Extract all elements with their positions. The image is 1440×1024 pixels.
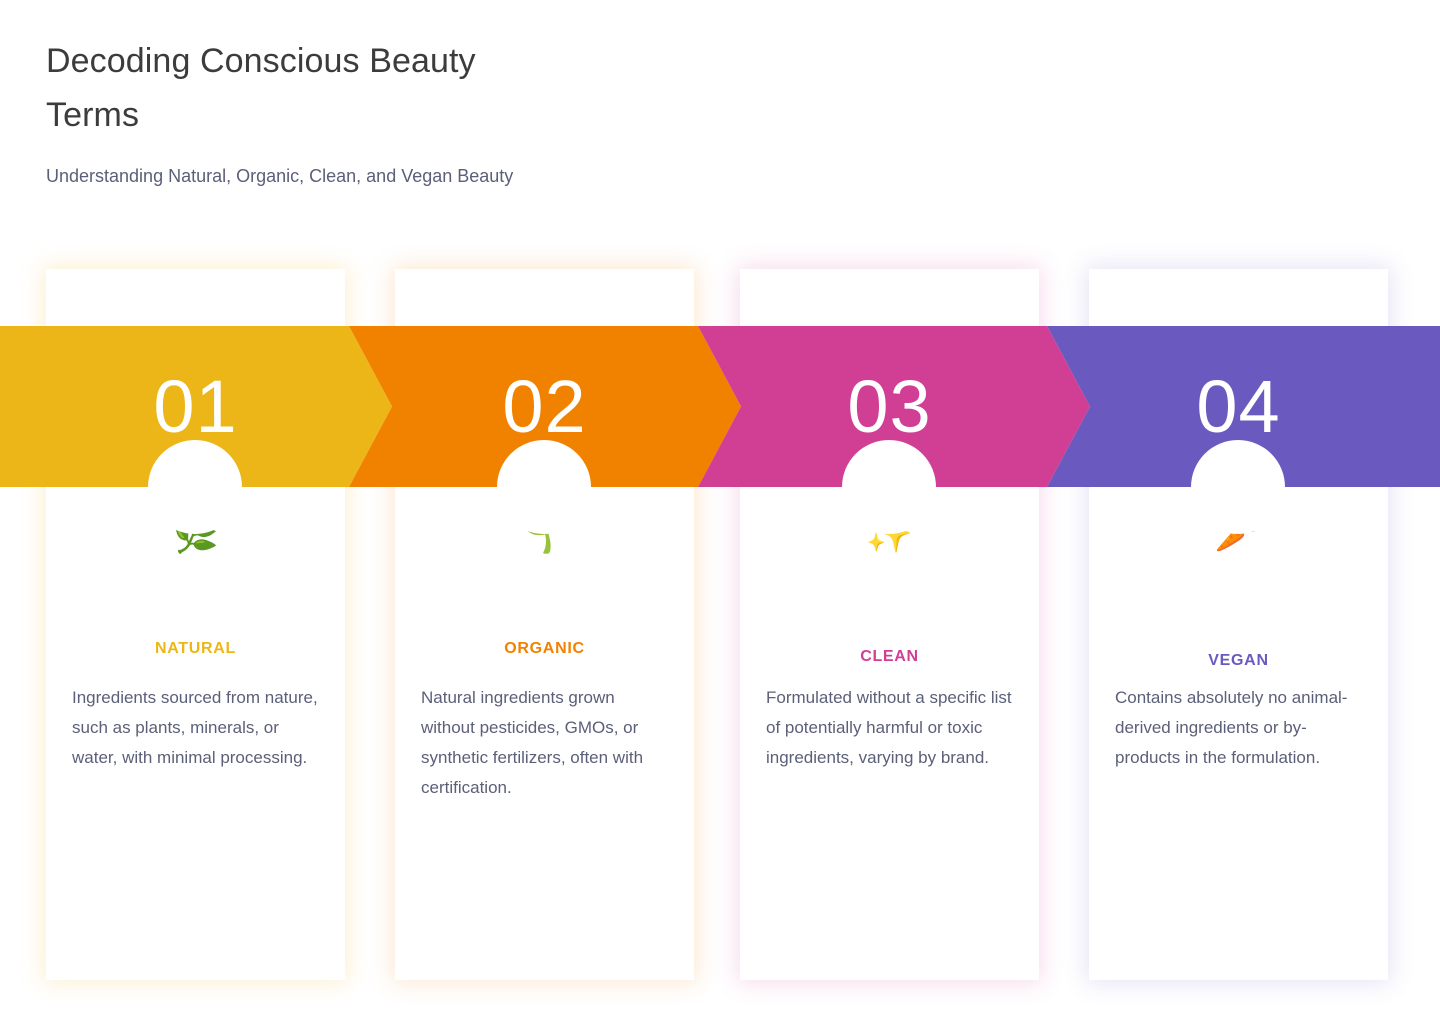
infographic-stage: Decoding Conscious Beauty Terms Understa…: [0, 0, 1440, 1024]
step-label-organic: ORGANIC: [395, 640, 694, 658]
page-title-line-2: Terms: [46, 88, 526, 142]
step-description-natural: Ingredients sourced from nature, such as…: [72, 683, 320, 773]
step-description-organic: Natural ingredients grown without pestic…: [421, 683, 669, 803]
page-title-line-1: Decoding Conscious Beauty: [46, 34, 526, 88]
page-title: Decoding Conscious Beauty Terms: [46, 34, 526, 142]
step-description-vegan: Contains absolutely no animal-derived in…: [1115, 683, 1363, 773]
step-number-clean: 03: [740, 326, 1039, 487]
header: Decoding Conscious Beauty Terms Understa…: [46, 34, 946, 189]
step-label-natural: NATURAL: [46, 640, 345, 658]
page-subtitle: Understanding Natural, Organic, Clean, a…: [46, 142, 946, 189]
step-number-organic: 02: [395, 326, 694, 487]
step-number-vegan: 04: [1089, 326, 1388, 487]
step-number-natural: 01: [46, 326, 345, 487]
step-label-clean: CLEAN: [740, 648, 1039, 666]
step-label-vegan: VEGAN: [1089, 652, 1388, 670]
step-description-clean: Formulated without a specific list of po…: [766, 683, 1014, 773]
step-number-band-strip: 01 02 03 04: [0, 326, 1440, 487]
